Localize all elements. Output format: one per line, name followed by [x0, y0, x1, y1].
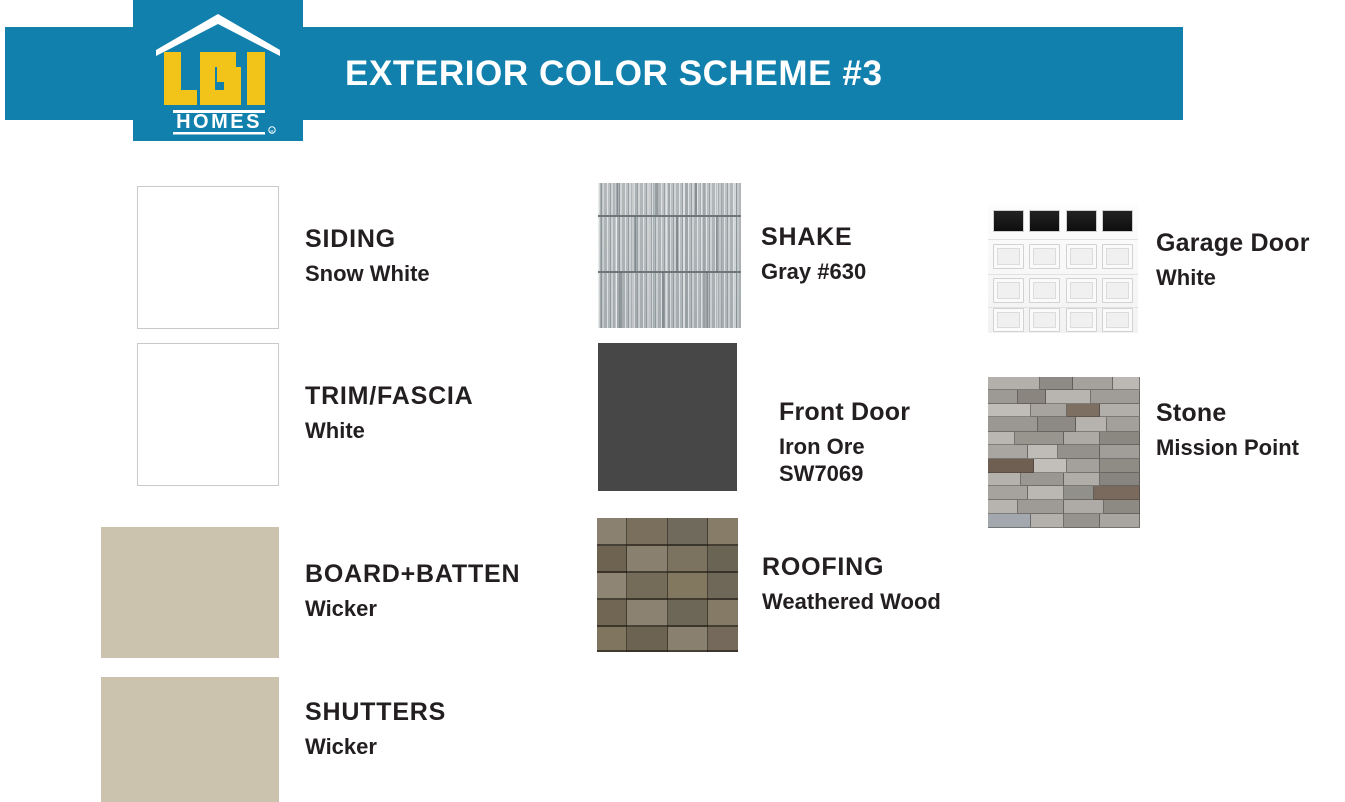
swatch-row-shutters[interactable]: SHUTTERS Wicker	[101, 677, 446, 802]
garage-panel	[993, 244, 1024, 269]
page-title: EXTERIOR COLOR SCHEME #3	[345, 27, 883, 120]
garage-panel	[1029, 278, 1060, 303]
swatch-stone[interactable]	[988, 377, 1140, 528]
swatch-shake[interactable]	[598, 183, 741, 328]
swatch-siding[interactable]	[137, 186, 279, 329]
swatch-subtitle-trim-fascia: White	[305, 418, 474, 445]
garage-window	[1029, 210, 1060, 232]
garage-panel	[1102, 308, 1133, 332]
swatch-row-trim-fascia[interactable]: TRIM/FASCIA White	[137, 343, 474, 486]
garage-panel	[1066, 308, 1097, 332]
swatch-subtitle-siding: Snow White	[305, 261, 430, 288]
swatch-labels-shutters: SHUTTERS Wicker	[305, 700, 446, 761]
swatch-row-shake[interactable]: SHAKE Gray #630	[598, 183, 866, 328]
swatch-subtitle-roofing: Weathered Wood	[762, 589, 941, 616]
swatch-row-stone[interactable]: Stone Mission Point	[988, 377, 1299, 528]
swatch-labels-siding: SIDING Snow White	[305, 227, 430, 288]
swatch-labels-stone: Stone Mission Point	[1156, 401, 1299, 462]
swatch-labels-roofing: ROOFING Weathered Wood	[762, 555, 941, 616]
swatch-trim-fascia[interactable]	[137, 343, 279, 486]
swatch-labels-garage-door: Garage Door White	[1156, 231, 1310, 292]
swatch-labels-shake: SHAKE Gray #630	[761, 225, 866, 286]
swatch-row-garage-door[interactable]: Garage Door White	[988, 204, 1310, 333]
swatch-front-door[interactable]	[598, 343, 737, 491]
svg-text:HOMES: HOMES	[176, 111, 262, 133]
swatch-subtitle-garage-door: White	[1156, 265, 1310, 292]
swatch-labels-board-batten: BOARD+BATTEN Wicker	[305, 562, 520, 623]
lgi-homes-logo: HOMES R	[133, 0, 303, 141]
garage-panel	[1029, 308, 1060, 332]
swatch-labels-front-door: Front Door Iron Ore SW7069	[779, 400, 910, 488]
swatch-title-stone: Stone	[1156, 401, 1299, 426]
swatch-row-board-batten[interactable]: BOARD+BATTEN Wicker	[101, 527, 520, 658]
garage-panel	[1102, 278, 1133, 303]
swatch-row-roofing[interactable]: ROOFING Weathered Wood	[597, 518, 941, 652]
garage-panel	[993, 278, 1024, 303]
swatch-subtitle-front-door: Iron Ore	[779, 434, 910, 461]
swatch-shutters[interactable]	[101, 677, 279, 802]
garage-panel	[1066, 278, 1097, 303]
lgi-homes-logo-graphic: HOMES R	[133, 0, 303, 141]
swatch-title-trim-fascia: TRIM/FASCIA	[305, 384, 474, 409]
garage-panel	[1102, 244, 1133, 269]
swatch-garage-door[interactable]	[988, 204, 1138, 333]
swatch-subtitle-shutters: Wicker	[305, 734, 446, 761]
swatch-row-siding[interactable]: SIDING Snow White	[137, 186, 430, 329]
swatch-title-garage-door: Garage Door	[1156, 231, 1310, 256]
garage-window	[1102, 210, 1133, 232]
svg-text:R: R	[271, 129, 274, 134]
garage-panel	[1029, 244, 1060, 269]
swatch-board-batten[interactable]	[101, 527, 279, 658]
garage-panel	[1066, 244, 1097, 269]
swatch-labels-trim-fascia: TRIM/FASCIA White	[305, 384, 474, 445]
swatch-title-shutters: SHUTTERS	[305, 700, 446, 725]
swatch-title-front-door: Front Door	[779, 400, 910, 425]
swatch-title-shake: SHAKE	[761, 225, 866, 250]
garage-window	[993, 210, 1024, 232]
swatch-subtitle2-front-door: SW7069	[779, 461, 910, 488]
swatch-title-siding: SIDING	[305, 227, 430, 252]
garage-window	[1066, 210, 1097, 232]
swatch-subtitle-shake: Gray #630	[761, 259, 866, 286]
swatch-row-front-door[interactable]: Front Door Iron Ore SW7069	[598, 343, 910, 491]
swatch-subtitle-board-batten: Wicker	[305, 596, 520, 623]
swatch-roofing[interactable]	[597, 518, 738, 652]
swatch-title-board-batten: BOARD+BATTEN	[305, 562, 520, 587]
swatch-subtitle-stone: Mission Point	[1156, 435, 1299, 462]
garage-panel	[993, 308, 1024, 332]
swatch-title-roofing: ROOFING	[762, 555, 941, 580]
